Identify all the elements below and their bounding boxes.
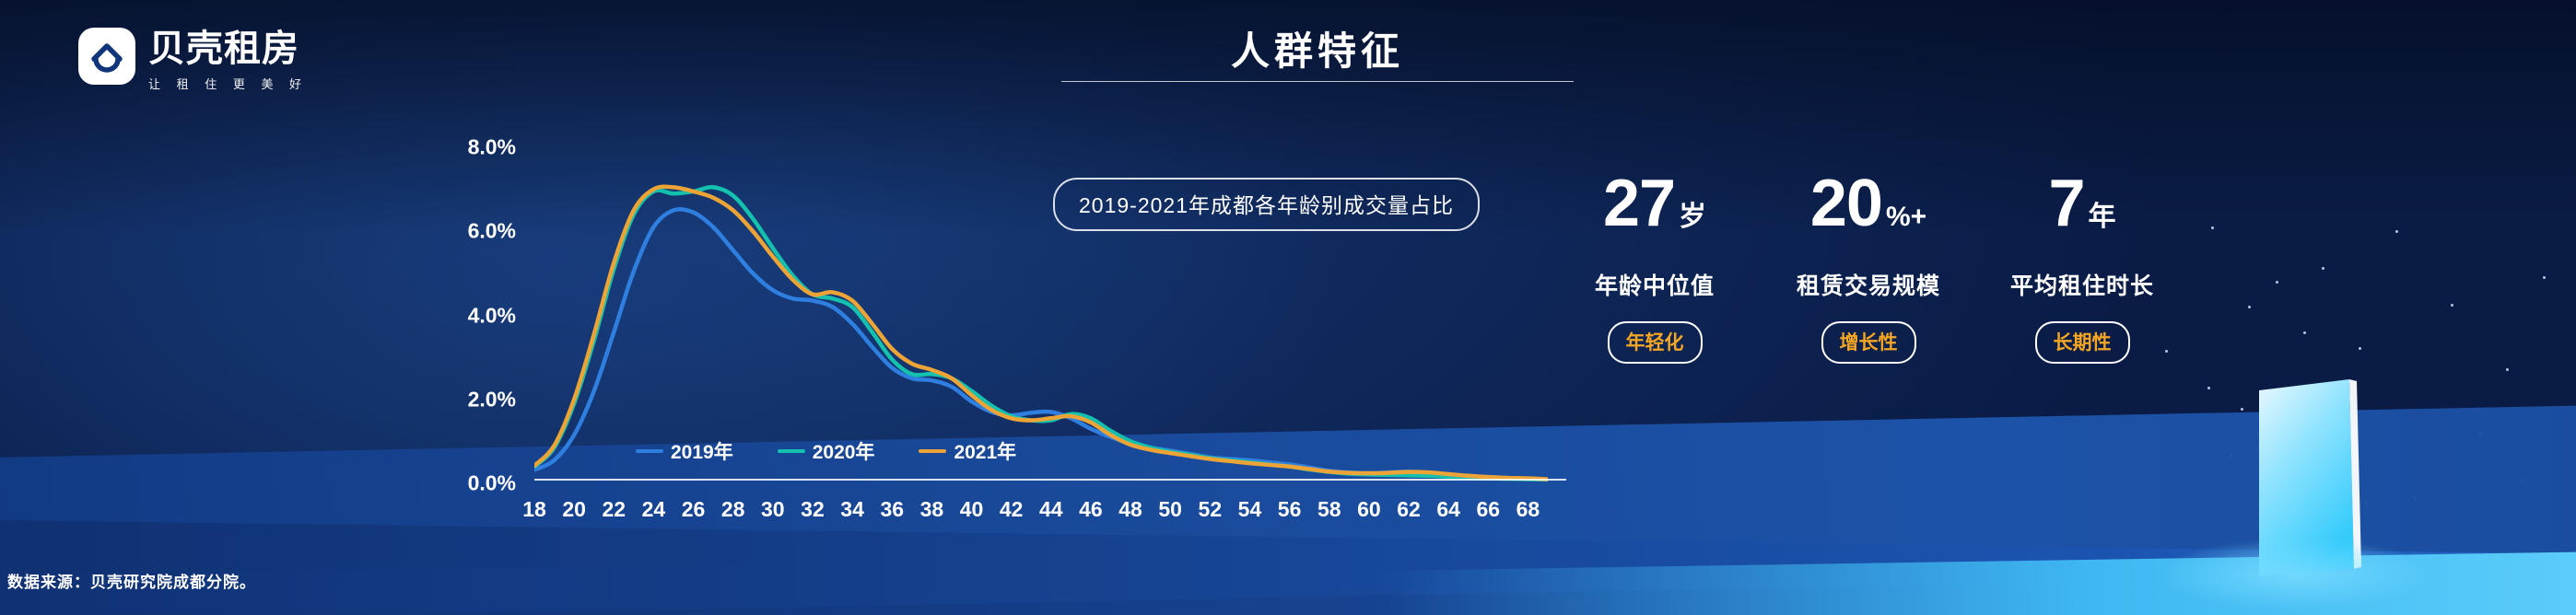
stat-label: 租赁交易规模 xyxy=(1797,268,1940,301)
star-dot xyxy=(2395,230,2398,233)
x-axis-tick: 32 xyxy=(801,497,825,522)
x-axis-tick: 66 xyxy=(1476,497,1500,522)
stat-number: 7 xyxy=(2048,170,2084,237)
star-dot xyxy=(2248,306,2251,308)
x-axis-tick: 28 xyxy=(721,497,745,522)
x-axis-tick: 44 xyxy=(1039,497,1063,522)
y-axis-labels: 0.0%2.0%4.0%6.0%8.0% xyxy=(405,147,516,483)
star-dot xyxy=(2207,387,2210,389)
brand-tagline: 让 租 住 更 美 好 xyxy=(148,75,308,92)
x-axis-tick: 18 xyxy=(522,497,546,522)
x-axis-tick: 26 xyxy=(682,497,706,522)
x-axis-tick: 62 xyxy=(1397,497,1421,522)
stat-pill-badge: 年轻化 xyxy=(1608,321,1703,364)
stat-unit: 年 xyxy=(2089,193,2116,234)
legend-item[interactable]: 2020年 xyxy=(778,437,875,465)
x-axis-tick: 42 xyxy=(1000,497,1024,522)
legend-label: 2020年 xyxy=(813,437,875,465)
stat-value: 27岁 xyxy=(1603,170,1706,237)
legend-swatch-icon xyxy=(919,449,946,453)
x-axis-tick: 22 xyxy=(602,497,626,522)
x-axis-tick: 54 xyxy=(1238,497,1262,522)
x-axis-tick: 24 xyxy=(642,497,666,522)
x-axis-tick: 46 xyxy=(1079,497,1103,522)
star-dot xyxy=(2322,267,2324,270)
x-axis-tick: 56 xyxy=(1278,497,1302,522)
chart-title-badge: 2019-2021年成都各年龄别成交量占比 xyxy=(1053,178,1480,231)
stat-number: 27 xyxy=(1603,170,1675,237)
infographic-banner: 贝壳租房 让 租 住 更 美 好 人群特征 0.0%2.0%4.0%6.0%8.… xyxy=(0,0,2576,615)
y-axis-tick: 6.0% xyxy=(468,219,516,244)
stat-pill-badge: 长期性 xyxy=(2035,321,2130,364)
x-axis-tick: 60 xyxy=(1357,497,1381,522)
x-axis-tick: 38 xyxy=(920,497,944,522)
brand-logo: 贝壳租房 让 租 住 更 美 好 xyxy=(78,28,308,92)
stat-label: 年龄中位值 xyxy=(1595,268,1715,301)
x-axis-tick: 68 xyxy=(1516,497,1540,522)
legend-swatch-icon xyxy=(636,449,663,453)
x-axis-tick: 36 xyxy=(880,497,904,522)
y-axis-tick: 2.0% xyxy=(468,387,516,412)
legend-item[interactable]: 2021年 xyxy=(919,437,1016,465)
star-dot xyxy=(2276,281,2278,284)
stat-unit: %+ xyxy=(1886,202,1926,233)
legend-label: 2019年 xyxy=(671,437,733,465)
y-axis-tick: 0.0% xyxy=(468,471,516,496)
star-dot xyxy=(2303,331,2306,334)
legend-item[interactable]: 2019年 xyxy=(636,437,733,465)
stat-number: 20 xyxy=(1810,170,1882,237)
key-stat: 20%+租赁交易规模增长性 xyxy=(1762,170,1975,364)
door-light-glow xyxy=(2158,538,2434,611)
x-axis-tick: 20 xyxy=(562,497,586,522)
star-dot xyxy=(2543,276,2546,279)
x-axis-tick: 34 xyxy=(840,497,864,522)
data-source-note: 数据来源：贝壳研究院成都分院。 xyxy=(7,569,256,592)
star-dot xyxy=(2241,408,2243,411)
star-dot xyxy=(2451,304,2453,307)
title-divider xyxy=(1061,81,1574,82)
x-axis-tick: 52 xyxy=(1199,497,1223,522)
stat-label: 平均租住时长 xyxy=(2010,268,2154,301)
x-axis-tick: 64 xyxy=(1436,497,1460,522)
stat-pill-badge: 增长性 xyxy=(1821,321,1916,364)
brand-name: 贝壳租房 xyxy=(148,29,308,68)
glowing-door-decoration xyxy=(2259,379,2480,609)
x-axis-tick: 30 xyxy=(761,497,785,522)
page-title: 人群特征 xyxy=(1060,20,1575,76)
stat-unit: 岁 xyxy=(1679,193,1706,234)
stat-value: 7年 xyxy=(2048,170,2115,237)
y-axis-tick: 8.0% xyxy=(468,135,516,160)
x-axis-line xyxy=(534,479,1566,481)
legend-swatch-icon xyxy=(778,449,805,453)
x-axis-tick: 58 xyxy=(1317,497,1341,522)
key-stat: 7年平均租住时长长期性 xyxy=(1975,170,2189,364)
star-dot xyxy=(2211,226,2214,229)
y-axis-tick: 4.0% xyxy=(468,303,516,328)
star-dot xyxy=(2506,368,2509,371)
chart-legend: 2019年2020年2021年 xyxy=(636,437,1016,465)
x-axis-tick: 50 xyxy=(1158,497,1182,522)
legend-label: 2021年 xyxy=(954,437,1016,465)
x-axis-tick: 48 xyxy=(1118,497,1142,522)
x-axis-tick: 40 xyxy=(960,497,984,522)
shell-house-icon xyxy=(78,28,135,85)
stat-value: 20%+ xyxy=(1810,170,1926,237)
star-dot xyxy=(2359,347,2361,350)
key-stats-group: 27岁年龄中位值年轻化20%+租赁交易规模增长性7年平均租住时长长期性 xyxy=(1548,170,2189,364)
x-axis-labels: 1820222426283032343638404244464850525456… xyxy=(534,497,1548,534)
key-stat: 27岁年龄中位值年轻化 xyxy=(1548,170,1762,364)
